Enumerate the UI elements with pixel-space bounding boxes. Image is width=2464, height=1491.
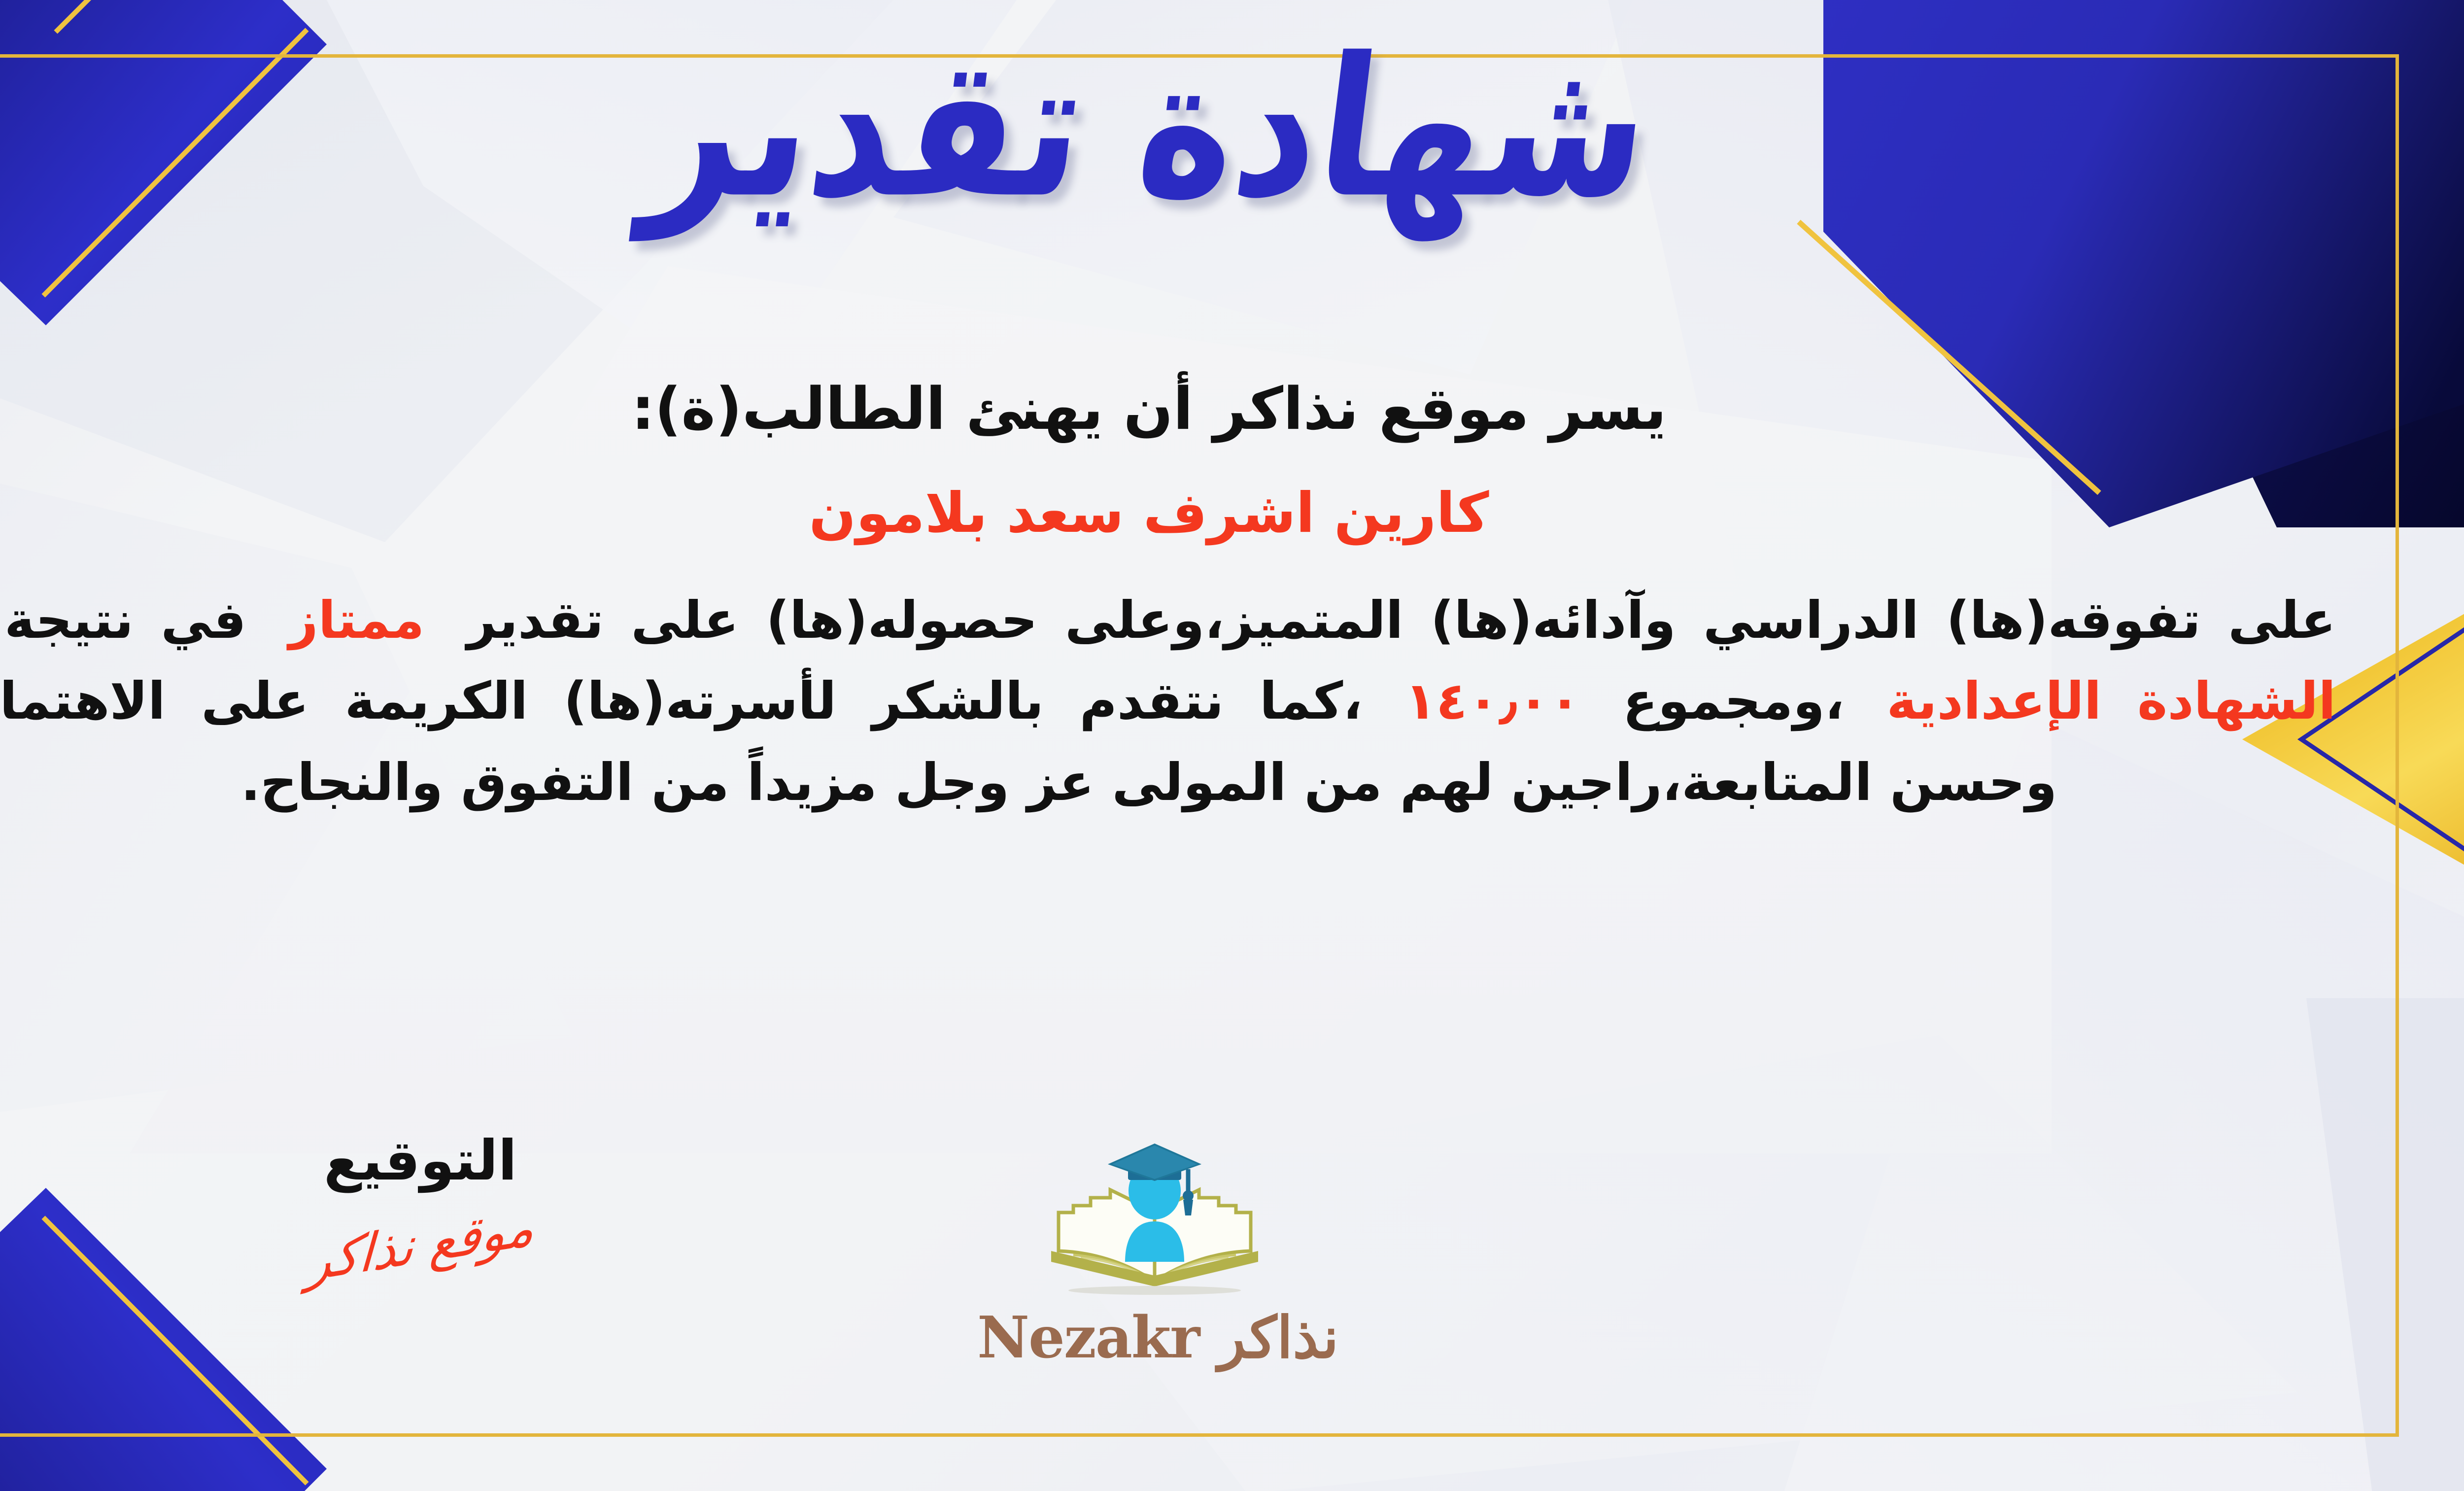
total-score: ١٤٠٫٠٠ <box>1405 671 1580 731</box>
certificate-title-container: شهادة تقدير <box>0 47 2464 209</box>
achievement-part-3: ،ومجموع <box>1623 671 1844 731</box>
grade-value: ممتاز <box>289 590 425 650</box>
achievement-part-2: في نتيجة <box>4 590 246 650</box>
logo-text: Nezakr نذاكر <box>977 1304 1332 1371</box>
exam-name: الشهادة الإعدادية <box>1886 671 2336 731</box>
signature-label: التوقيع <box>208 1129 632 1193</box>
page-title: شهادة تقدير <box>638 32 1660 224</box>
brand-logo: Nezakr نذاكر <box>977 1139 1332 1371</box>
achievement-paragraph: على تفوقه(ها) الدراسي وآدائه(ها) المتميز… <box>0 580 2336 823</box>
graduate-book-logo-icon <box>1031 1139 1278 1301</box>
signature-mark: موقع نذاكر <box>305 1196 536 1293</box>
intro-line: يسر موقع نذاكر أن يهنئ الطالب(ة): <box>0 375 2336 443</box>
corner-ornament-bottom-right <box>1823 998 2464 1491</box>
certificate-canvas: شهادة تقدير يسر موقع نذاكر أن يهنئ الطال… <box>0 0 2464 1491</box>
student-name: كارين اشرف سعد بلامون <box>0 481 2336 545</box>
signature-block: التوقيع موقع نذاكر <box>208 1129 632 1275</box>
certificate-body: يسر موقع نذاكر أن يهنئ الطالب(ة): كارين … <box>0 375 2336 823</box>
achievement-part-1: على تفوقه(ها) الدراسي وآدائه(ها) المتميز… <box>467 590 2336 650</box>
